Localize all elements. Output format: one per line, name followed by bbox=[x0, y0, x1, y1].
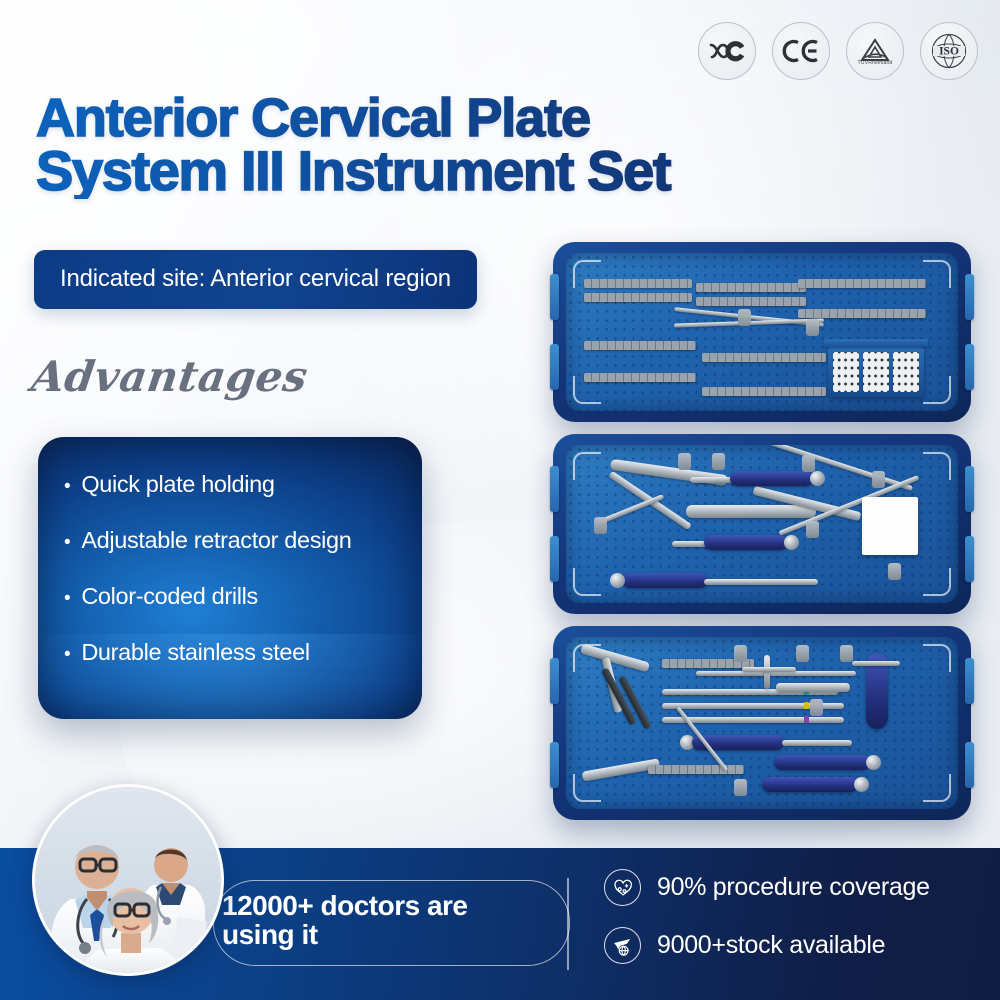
screw-rack bbox=[584, 373, 696, 382]
doctors-avatar bbox=[32, 784, 224, 976]
tuv-caption: TÜVRheinland bbox=[858, 60, 893, 66]
tray-base bbox=[566, 253, 958, 411]
page-title: Anterior Cervical Plate System III Instr… bbox=[36, 92, 916, 199]
driver-shaft bbox=[704, 579, 818, 585]
tuv-rheinland-mark-icon: TÜVRheinland bbox=[846, 22, 904, 80]
depth-gauge bbox=[776, 683, 850, 692]
advantages-heading: Advantages bbox=[29, 352, 311, 401]
drill-color-band-purple bbox=[804, 716, 809, 723]
screw-block bbox=[893, 352, 919, 392]
instrument-clip bbox=[678, 453, 691, 470]
instrument-clip bbox=[888, 563, 901, 580]
driver-handle bbox=[762, 777, 858, 792]
heart-stethoscope-icon bbox=[604, 869, 641, 906]
driver-shaft bbox=[782, 740, 852, 746]
screw-rack bbox=[702, 353, 826, 362]
driver-knob bbox=[854, 777, 869, 792]
screw-block bbox=[833, 352, 859, 392]
tray-latch bbox=[550, 344, 559, 390]
stats-group: 90% procedure coverage 9000+stock availa… bbox=[604, 869, 930, 964]
screw-rack bbox=[584, 341, 696, 350]
tray-latch bbox=[965, 466, 974, 512]
bullet-icon: • bbox=[64, 645, 70, 664]
instrument-clip bbox=[872, 471, 885, 488]
doctors-line-1: 12000+ doctors are bbox=[222, 890, 468, 921]
instrument-clip bbox=[594, 517, 607, 534]
t-handle-stem bbox=[764, 655, 770, 689]
tray-latch bbox=[550, 536, 559, 582]
product-image-group bbox=[553, 242, 953, 832]
tray-latch bbox=[550, 274, 559, 320]
advantages-panel: • Quick plate holding • Adjustable retra… bbox=[38, 437, 422, 719]
tray-latch bbox=[965, 658, 974, 704]
screw-rack bbox=[798, 309, 926, 318]
tray-base bbox=[566, 445, 958, 603]
toothed-rack bbox=[648, 765, 744, 774]
tray-base bbox=[566, 637, 958, 809]
title-line-1: Anterior Cervical Plate bbox=[36, 92, 916, 144]
tray-latch bbox=[965, 536, 974, 582]
stat-procedure-coverage: 90% procedure coverage bbox=[604, 869, 930, 906]
tray-latch bbox=[550, 658, 559, 704]
screw-rack bbox=[702, 387, 826, 396]
svg-text:ISO: ISO bbox=[939, 46, 959, 58]
screw-block bbox=[863, 352, 889, 392]
driver-handle bbox=[704, 535, 788, 550]
airplane-globe-icon bbox=[604, 927, 641, 964]
list-item: • Quick plate holding bbox=[64, 471, 400, 498]
screw-caddy-module bbox=[828, 347, 924, 397]
drill-retractor-tray bbox=[553, 626, 971, 820]
driver-handle bbox=[622, 573, 708, 588]
screw-rack bbox=[584, 293, 692, 302]
instrument-clip bbox=[810, 699, 823, 716]
list-item: • Adjustable retractor design bbox=[64, 527, 400, 554]
instrument-clip bbox=[840, 645, 853, 662]
advantages-list: • Quick plate holding • Adjustable retra… bbox=[38, 437, 422, 666]
ce-mark-icon bbox=[772, 22, 830, 80]
screw-rack bbox=[798, 279, 926, 288]
stat-label: 90% procedure coverage bbox=[657, 873, 930, 902]
indicated-site-banner: Indicated site: Anterior cervical region bbox=[34, 250, 477, 309]
xc-mark-icon bbox=[698, 22, 756, 80]
instrument-clip bbox=[802, 455, 815, 472]
driver-knob bbox=[610, 573, 625, 588]
screw-rack bbox=[584, 279, 692, 288]
bullet-icon: • bbox=[64, 589, 70, 608]
instrument-clip bbox=[796, 645, 809, 662]
driver-knob bbox=[784, 535, 799, 550]
advantage-label: Quick plate holding bbox=[81, 471, 274, 498]
instrument-clip bbox=[712, 453, 725, 470]
driver-knob bbox=[866, 755, 881, 770]
screw-caddy-tray bbox=[553, 242, 971, 422]
instrument-clip bbox=[806, 319, 819, 336]
tray-latch bbox=[965, 274, 974, 320]
tray-latch bbox=[550, 466, 559, 512]
bullet-icon: • bbox=[64, 533, 70, 552]
doctors-illustration bbox=[35, 787, 221, 973]
doctors-line-2: using it bbox=[222, 919, 318, 950]
plate-bender bbox=[686, 505, 816, 518]
screw-rack bbox=[696, 283, 806, 292]
advantage-label: Durable stainless steel bbox=[81, 639, 309, 666]
iso-mark-icon: ISO bbox=[920, 22, 978, 80]
t-handle-bar bbox=[852, 661, 900, 666]
stat-label: 9000+stock available bbox=[657, 931, 885, 960]
driver-knob bbox=[810, 471, 825, 486]
instrument-clip bbox=[738, 309, 751, 326]
title-line-2: System III Instrument Set bbox=[36, 144, 916, 198]
bar-divider bbox=[567, 878, 569, 970]
bullet-icon: • bbox=[64, 477, 70, 496]
certification-badges: TÜVRheinland ISO bbox=[698, 22, 978, 80]
advantage-label: Adjustable retractor design bbox=[81, 527, 351, 554]
advantage-label: Color-coded drills bbox=[81, 583, 258, 610]
list-item: • Color-coded drills bbox=[64, 583, 400, 610]
caddy-lid bbox=[824, 339, 928, 347]
tray-label-card bbox=[862, 497, 918, 555]
tray-latch bbox=[550, 742, 559, 788]
list-item: • Durable stainless steel bbox=[64, 639, 400, 666]
driver-handle bbox=[730, 471, 814, 486]
stat-stock-available: 9000+stock available bbox=[604, 927, 930, 964]
instrument-clip bbox=[734, 779, 747, 796]
instrument-tray bbox=[553, 434, 971, 614]
driver-handle bbox=[774, 755, 870, 770]
instrument-clip bbox=[806, 521, 819, 538]
t-handle-bar bbox=[742, 667, 796, 672]
poster-canvas: TÜVRheinland ISO Anterior Cervical Plate… bbox=[0, 0, 1000, 1000]
doctors-count-text: 12000+ doctors are using it bbox=[222, 891, 522, 950]
tray-latch bbox=[965, 742, 974, 788]
instrument-clip bbox=[734, 645, 747, 662]
tray-latch bbox=[965, 344, 974, 390]
screw-rack bbox=[696, 297, 806, 306]
drill-color-band-yellow bbox=[804, 702, 809, 709]
